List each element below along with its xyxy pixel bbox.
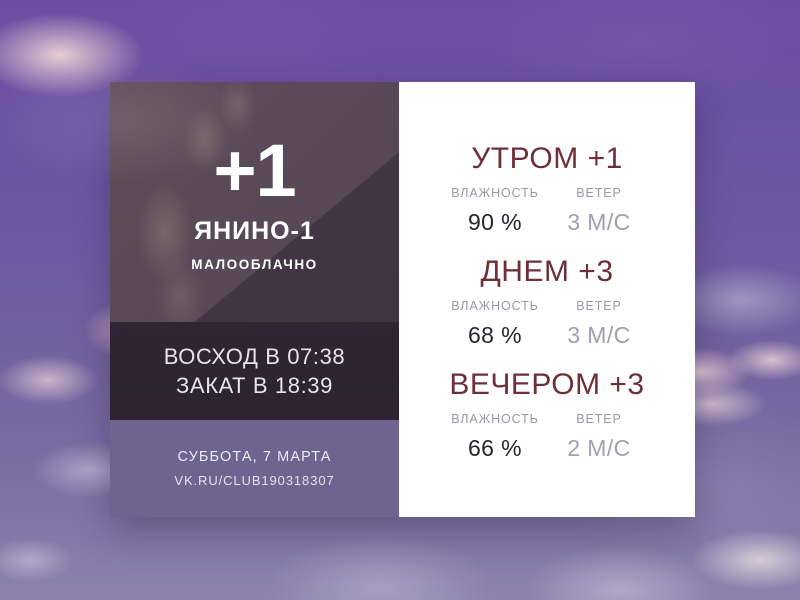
wind-label: ВЕТЕР (547, 299, 651, 313)
wind-label: ВЕТЕР (547, 412, 651, 426)
sunset-time: ЗАКАТ В 18:39 (176, 373, 333, 399)
forecast-values: 68 % 3 М/С (399, 322, 695, 349)
forecast-values: 66 % 2 М/С (399, 435, 695, 462)
sun-times-block: ВОСХОД В 07:38 ЗАКАТ В 18:39 (110, 322, 399, 420)
weather-condition: МАЛООБЛАЧНО (191, 257, 318, 272)
forecast-values: 90 % 3 М/С (399, 209, 695, 236)
forecast-day: ДНЕМ +3 ВЛАЖНОСТЬ ВЕТЕР 68 % 3 М/С (399, 245, 695, 358)
humidity-label: ВЛАЖНОСТЬ (443, 299, 547, 313)
footer-link[interactable]: VK.RU/CLUB190318307 (174, 473, 334, 488)
forecast-morning: УТРОМ +1 ВЛАЖНОСТЬ ВЕТЕР 90 % 3 М/С (399, 132, 695, 245)
weather-card: +1 ЯНИНО-1 МАЛООБЛАЧНО ВОСХОД В 07:38 ЗА… (110, 82, 695, 517)
humidity-value: 68 % (443, 322, 547, 349)
footer-date: СУББОТА, 7 МАРТА (178, 449, 332, 465)
current-temperature: +1 (213, 136, 295, 206)
wind-value: 3 М/С (547, 322, 651, 349)
card-footer: СУББОТА, 7 МАРТА VK.RU/CLUB190318307 (110, 420, 399, 517)
forecast-title: ВЕЧЕРОМ +3 (449, 368, 644, 401)
forecast-panel: УТРОМ +1 ВЛАЖНОСТЬ ВЕТЕР 90 % 3 М/С ДНЕМ… (399, 82, 695, 517)
sunrise-time: ВОСХОД В 07:38 (164, 344, 346, 370)
forecast-title: УТРОМ +1 (471, 142, 623, 175)
photo-hero: +1 ЯНИНО-1 МАЛООБЛАЧНО (110, 82, 399, 322)
humidity-value: 66 % (443, 435, 547, 462)
sky-background: +1 ЯНИНО-1 МАЛООБЛАЧНО ВОСХОД В 07:38 ЗА… (0, 0, 800, 600)
humidity-label: ВЛАЖНОСТЬ (443, 186, 547, 200)
forecast-labels: ВЛАЖНОСТЬ ВЕТЕР (399, 186, 695, 200)
forecast-evening: ВЕЧЕРОМ +3 ВЛАЖНОСТЬ ВЕТЕР 66 % 2 М/С (399, 358, 695, 471)
humidity-label: ВЛАЖНОСТЬ (443, 412, 547, 426)
forecast-title: ДНЕМ +3 (480, 255, 613, 288)
humidity-value: 90 % (443, 209, 547, 236)
current-weather-panel: +1 ЯНИНО-1 МАЛООБЛАЧНО ВОСХОД В 07:38 ЗА… (110, 82, 399, 517)
city-name: ЯНИНО-1 (194, 217, 315, 246)
wind-value: 2 М/С (547, 435, 651, 462)
current-weather-content: +1 ЯНИНО-1 МАЛООБЛАЧНО (110, 82, 399, 322)
wind-label: ВЕТЕР (547, 186, 651, 200)
wind-value: 3 М/С (547, 209, 651, 236)
forecast-labels: ВЛАЖНОСТЬ ВЕТЕР (399, 412, 695, 426)
forecast-labels: ВЛАЖНОСТЬ ВЕТЕР (399, 299, 695, 313)
